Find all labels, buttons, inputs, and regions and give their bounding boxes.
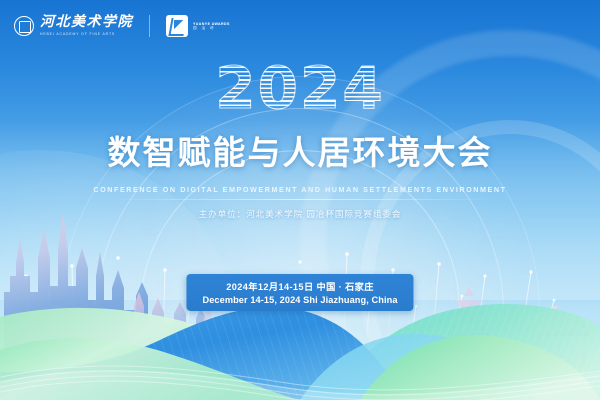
award-logo[interactable]: YUANYE AWARDS 园 冶 杯 xyxy=(166,15,230,37)
title-block: 数智赋能与人居环境大会 CONFERENCE ON DIGITAL EMPOWE… xyxy=(0,126,600,200)
year-heading-wrap: 2024 xyxy=(0,54,600,122)
conference-title-cn: 数智赋能与人居环境大会 xyxy=(0,126,600,174)
header-logo-bar: 河北美术学院 HEBEI ACADEMY OF FINE ARTS YUANYE… xyxy=(0,0,600,52)
yuanye-award-mark-icon xyxy=(166,15,188,37)
date-location-badge: 2024年12月14-15日 中国 · 石家庄 December 14-15, … xyxy=(186,274,413,311)
organizer-line: 主办单位：河北美术学院 园冶杯国际竞赛组委会 xyxy=(0,208,600,220)
logo-divider xyxy=(149,15,150,37)
university-name-en: HEBEI ACADEMY OF FINE ARTS xyxy=(40,33,133,36)
date-line-cn: 2024年12月14-15日 中国 · 石家庄 xyxy=(202,279,397,293)
title-underline-rule xyxy=(108,199,492,200)
university-seal-icon xyxy=(14,16,34,36)
award-name-cn: 园 冶 杯 xyxy=(193,26,230,30)
year-heading: 2024 xyxy=(215,54,384,122)
conference-banner: 河北美术学院 HEBEI ACADEMY OF FINE ARTS YUANYE… xyxy=(0,0,600,400)
date-line-en: December 14-15, 2024 Shi Jiazhuang, Chin… xyxy=(202,295,397,305)
conference-subtitle-en: CONFERENCE ON DIGITAL EMPOWERMENT AND HU… xyxy=(0,185,600,194)
university-name-cn: 河北美术学院 xyxy=(40,16,133,30)
university-logo[interactable]: 河北美术学院 HEBEI ACADEMY OF FINE ARTS xyxy=(14,16,133,36)
